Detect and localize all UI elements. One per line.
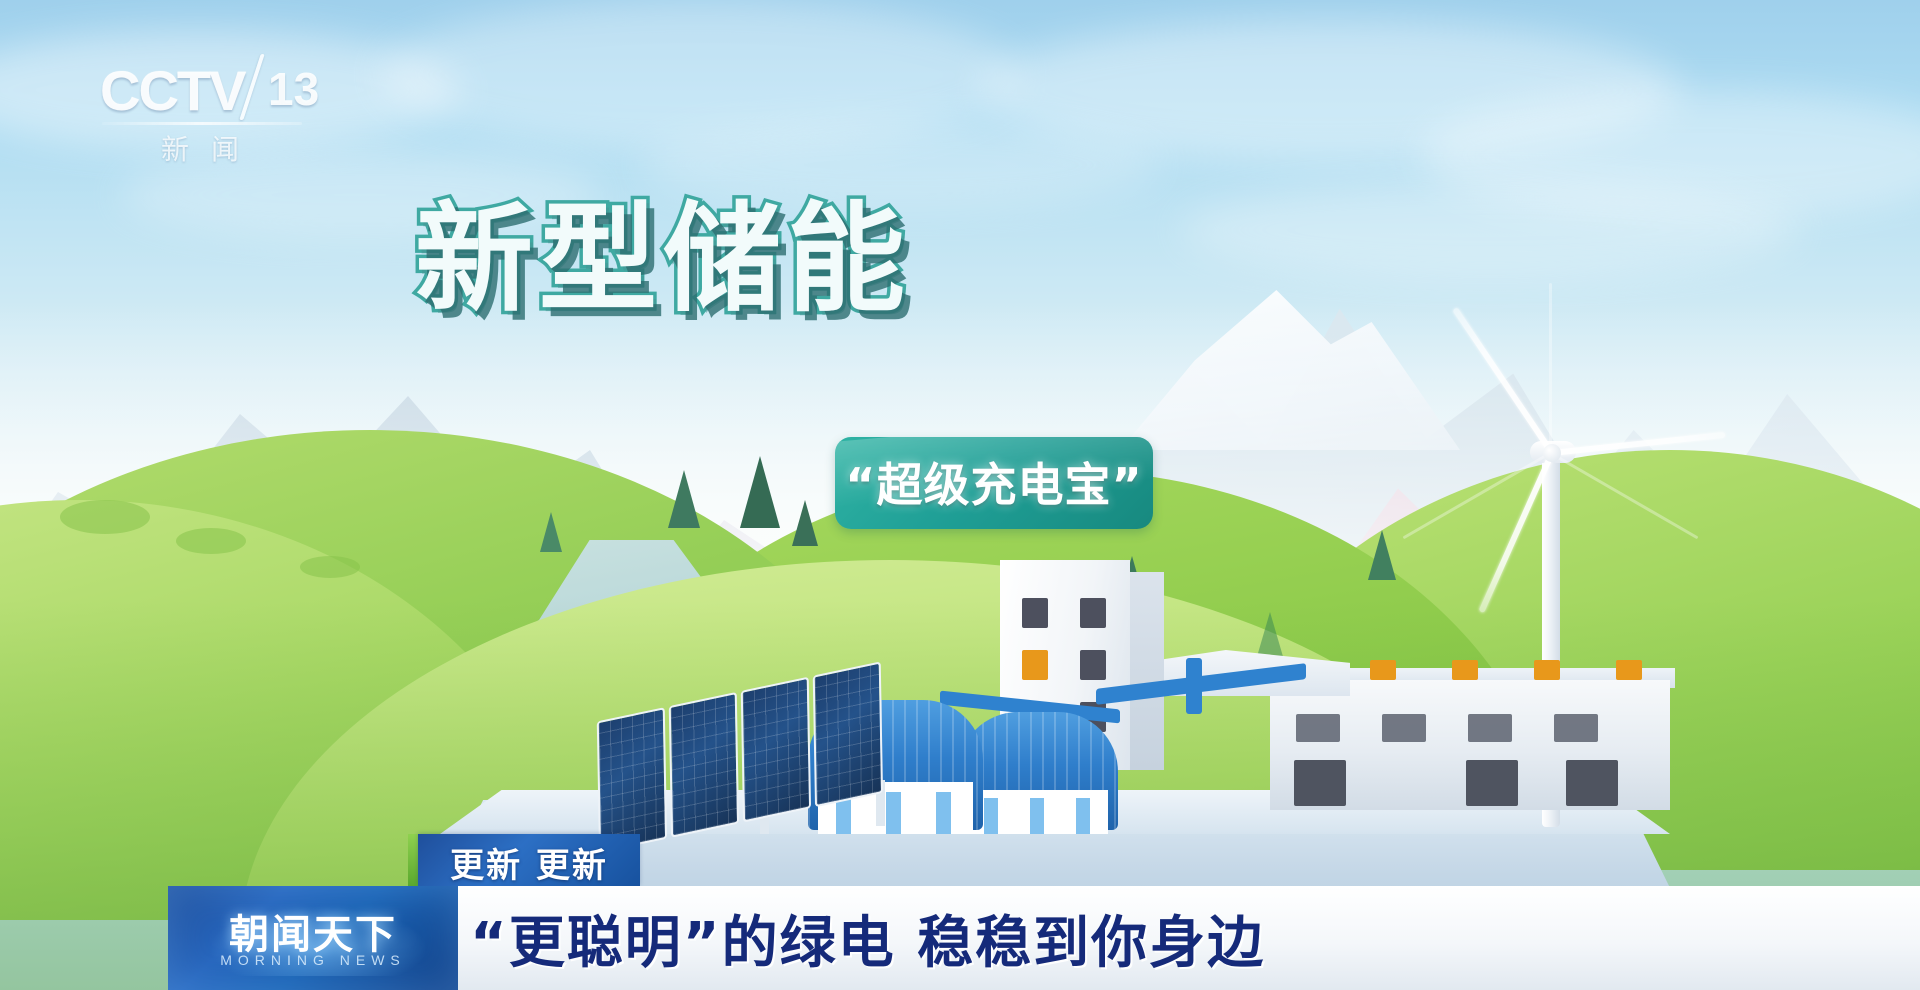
storage-warehouse-icon [1270, 680, 1670, 810]
pine-tree-icon [540, 512, 562, 552]
warehouse-window [1468, 714, 1512, 742]
solar-panel [599, 710, 665, 851]
tower-window [1080, 598, 1106, 628]
pine-tree-icon [1368, 530, 1396, 580]
tower-window [1080, 650, 1106, 680]
pine-tree-icon [668, 470, 700, 528]
warehouse-window [1382, 714, 1426, 742]
solar-panel [815, 664, 881, 805]
cctv-13-channel-logo: CCTV 13 新闻 [100, 58, 310, 158]
cloud-icon [1180, 180, 1800, 280]
pine-tree-icon [792, 500, 818, 546]
tower-window-lit [1022, 650, 1048, 680]
warehouse-door [1566, 760, 1618, 806]
subtitle-banner: “超级充电宝” [835, 437, 1153, 529]
turbine-hub [1543, 444, 1561, 462]
shed-stripe [936, 792, 951, 834]
headline-text: “更聪明”的绿电 稳稳到你身边 [470, 898, 1265, 979]
bush-icon [300, 556, 360, 578]
turbine-blade-motion-blur [1549, 283, 1552, 455]
pipe-icon [1186, 658, 1202, 714]
program-logo: 朝闻天下 MORNING NEWS [168, 886, 458, 990]
warehouse-door [1466, 760, 1518, 806]
banner-label: “超级充电宝” [835, 449, 1153, 515]
pine-tree-icon [740, 456, 780, 528]
bush-icon [176, 528, 246, 554]
channel-wordmark: CCTV [100, 58, 244, 123]
bush-icon [60, 500, 150, 534]
solar-panel [671, 694, 737, 835]
warehouse-door [1294, 760, 1346, 806]
solar-panel [743, 679, 809, 820]
shed-stripe [1076, 798, 1090, 834]
logo-underline [102, 122, 302, 125]
page-title: 新型储能 [415, 196, 911, 323]
program-name-en: MORNING NEWS [168, 952, 458, 968]
tower-window [1022, 598, 1048, 628]
warehouse-window [1554, 714, 1598, 742]
update-tag-label: 更新 更新 [418, 838, 640, 887]
broadcast-screen: CCTV 13 新闻 新型储能 “超级充电宝” 更新 更新 “更聪明”的绿电 稳… [0, 0, 1920, 990]
shed-stripe [984, 798, 998, 834]
channel-name-cn: 新闻 [136, 128, 286, 168]
warehouse-roof-block [1452, 660, 1478, 680]
turbine-blade-motion-blur [1548, 451, 1698, 540]
channel-wordmark-row: CCTV 13 [100, 58, 310, 120]
warehouse-roof-block [1370, 660, 1396, 680]
lower-third: 更新 更新 “更聪明”的绿电 稳稳到你身边 朝闻天下 MORNING NEWS [0, 886, 1920, 990]
warehouse-window [1296, 714, 1340, 742]
shed-stripe [1030, 798, 1044, 834]
update-tag: 更新 更新 [418, 834, 640, 886]
pine-tree-icon [1256, 612, 1284, 660]
channel-number: 13 [268, 62, 319, 116]
warehouse-roof-block [1534, 660, 1560, 680]
factory-tower-side [1130, 572, 1164, 770]
warehouse-roof-block [1616, 660, 1642, 680]
